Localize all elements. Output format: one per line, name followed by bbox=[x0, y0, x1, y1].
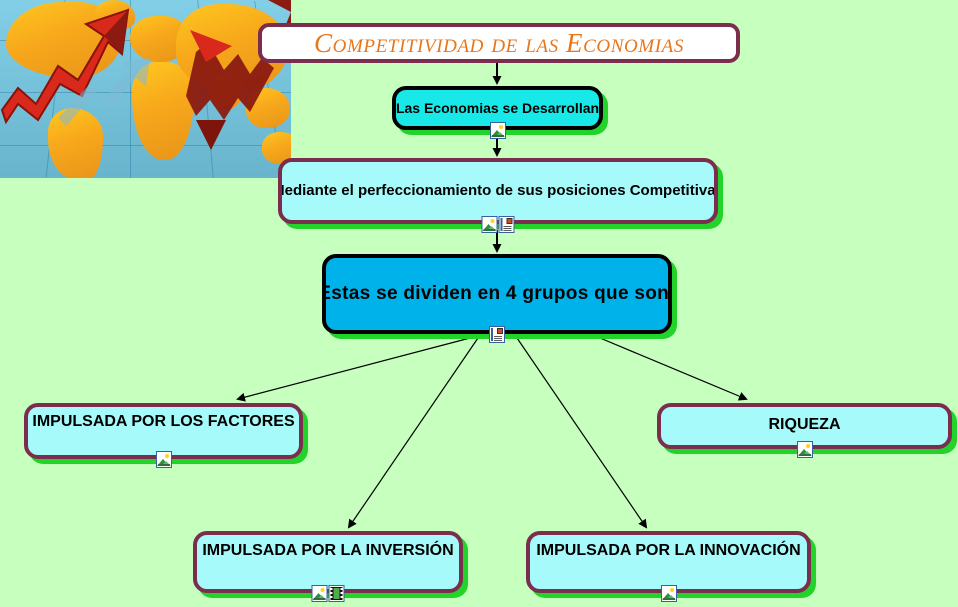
node-label: IMPULSADA POR LA INNOVACIÓN bbox=[526, 535, 810, 560]
node-label: RIQUEZA bbox=[759, 407, 851, 434]
connector-grupos-to-factores bbox=[238, 338, 470, 399]
connector-grupos-to-innovacion bbox=[517, 338, 646, 527]
node-label: Mediante el perfeccionamiento de sus pos… bbox=[278, 182, 718, 199]
node-badges bbox=[797, 441, 813, 458]
image-icon[interactable] bbox=[661, 585, 677, 602]
node-badges bbox=[482, 216, 515, 233]
node-body: IMPULSADA POR LA INVERSIÓN bbox=[193, 531, 463, 593]
node-label: Estas se dividen en 4 grupos que son: bbox=[322, 283, 672, 305]
image-icon[interactable] bbox=[312, 585, 328, 602]
node-label: Las Economias se Desarrollan bbox=[392, 100, 603, 116]
node-mediante-el-perfeccionamiento[interactable]: Mediante el perfeccionamiento de sus pos… bbox=[278, 158, 718, 224]
node-impulsada-por-los-factores[interactable]: IMPULSADA POR LOS FACTORES bbox=[24, 403, 303, 459]
node-body: IMPULSADA POR LA INNOVACIÓN bbox=[526, 531, 811, 593]
node-badges bbox=[490, 122, 506, 139]
node-badges bbox=[312, 585, 345, 602]
node-badges bbox=[661, 585, 677, 602]
image-icon[interactable] bbox=[797, 441, 813, 458]
image-icon[interactable] bbox=[156, 451, 172, 468]
node-badges bbox=[489, 326, 505, 343]
node-body: Mediante el perfeccionamiento de sus pos… bbox=[278, 158, 718, 224]
page-title: Competitividad de las Economias bbox=[314, 30, 684, 57]
image-icon[interactable] bbox=[490, 122, 506, 139]
document-icon[interactable] bbox=[489, 326, 505, 343]
map-trend-arrows bbox=[0, 0, 291, 178]
image-icon[interactable] bbox=[482, 216, 498, 233]
node-body: Estas se dividen en 4 grupos que son: bbox=[322, 254, 672, 334]
node-impulsada-por-la-inversion[interactable]: IMPULSADA POR LA INVERSIÓN bbox=[193, 531, 463, 593]
node-label: IMPULSADA POR LA INVERSIÓN bbox=[193, 535, 463, 560]
node-estas-se-dividen-en-4-grupos[interactable]: Estas se dividen en 4 grupos que son: bbox=[322, 254, 672, 334]
node-las-economias-se-desarrollan[interactable]: Las Economias se Desarrollan bbox=[392, 86, 603, 130]
node-riqueza[interactable]: RIQUEZA bbox=[657, 403, 952, 449]
film-icon[interactable] bbox=[329, 585, 345, 602]
connector-grupos-to-inversion bbox=[349, 338, 478, 527]
node-label: IMPULSADA POR LOS FACTORES bbox=[24, 407, 303, 431]
concept-map-canvas: Competitividad de las Economias Las Econ… bbox=[0, 0, 958, 607]
map-title-banner: Competitividad de las Economias bbox=[258, 23, 740, 63]
connector-grupos-to-riqueza bbox=[600, 338, 746, 399]
node-impulsada-por-la-innovacion[interactable]: IMPULSADA POR LA INNOVACIÓN bbox=[526, 531, 811, 593]
world-map-image bbox=[0, 0, 291, 178]
document-icon[interactable] bbox=[499, 216, 515, 233]
node-badges bbox=[156, 451, 172, 468]
